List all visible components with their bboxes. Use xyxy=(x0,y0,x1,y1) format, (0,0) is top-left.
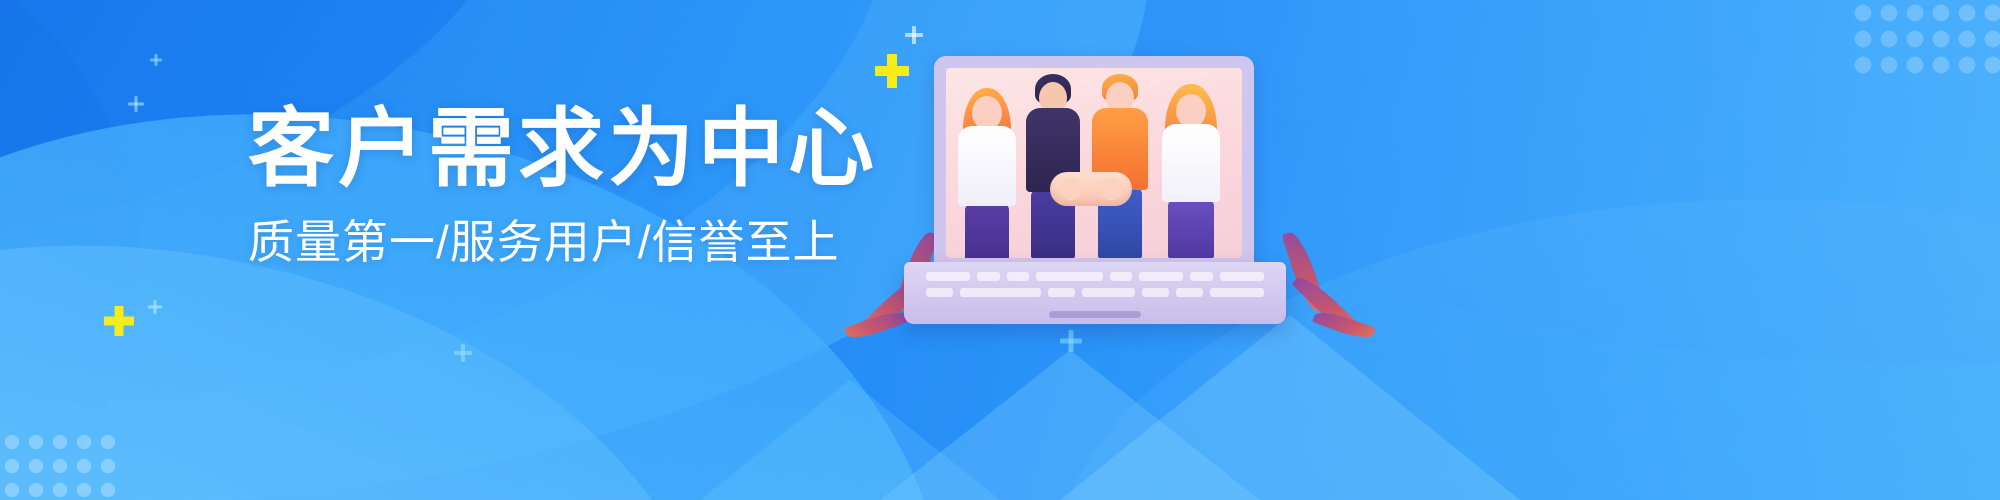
mountain-shape-left xyxy=(880,350,1260,500)
keyboard-key xyxy=(1007,272,1029,281)
dot-grid-bottom-left xyxy=(0,430,120,500)
keyboard-key xyxy=(977,272,999,281)
promo-banner: 客户需求为中心 质量第一/服务用户/信誉至上 xyxy=(0,0,2000,500)
body-shape xyxy=(958,126,1016,206)
keyboard-key xyxy=(1142,288,1169,297)
plus-icon-cyan-center xyxy=(454,344,472,362)
keyboard-key xyxy=(1110,272,1132,281)
plus-icon-cyan-top-left xyxy=(128,96,144,112)
head-shape xyxy=(1176,94,1206,128)
keyboard-key xyxy=(1139,272,1183,281)
keyboard-key xyxy=(1210,288,1264,297)
keyboard-row-top xyxy=(926,272,1264,281)
background-circle-left xyxy=(0,0,140,500)
dot-grid-top-right xyxy=(1850,0,2000,80)
page-subtitle: 质量第一/服务用户/信誉至上 xyxy=(248,217,868,268)
plus-icon-yellow-bottom xyxy=(104,306,134,336)
keyboard-key xyxy=(926,288,953,297)
keyboard-key xyxy=(960,288,1041,297)
mountain-shape-small xyxy=(700,380,1000,500)
plus-icon-cyan-bottom xyxy=(148,300,162,314)
keyboard-row-bottom xyxy=(926,288,1264,297)
legs-shape xyxy=(1168,200,1214,258)
keyboard-key xyxy=(1176,288,1203,297)
head-shape xyxy=(972,96,1002,130)
person-man-orange xyxy=(1088,68,1152,258)
person-woman-left xyxy=(954,78,1020,258)
laptop-screen xyxy=(946,68,1242,258)
page-title: 客户需求为中心 xyxy=(248,104,868,195)
plus-icon-cyan-mid-left xyxy=(150,54,162,66)
keyboard-key xyxy=(1036,272,1103,281)
keyboard-key xyxy=(926,272,970,281)
keyboard-key xyxy=(1220,272,1264,281)
laptop-lid xyxy=(934,56,1254,266)
person-man-navy xyxy=(1022,68,1084,258)
person-woman-right xyxy=(1154,74,1228,258)
headline-block: 客户需求为中心 质量第一/服务用户/信誉至上 xyxy=(248,104,868,268)
laptop-keyboard-base xyxy=(904,262,1286,324)
keyboard-key xyxy=(1190,272,1212,281)
joined-hands-shape xyxy=(1050,172,1132,206)
laptop-team-illustration xyxy=(900,40,1320,370)
body-shape xyxy=(1162,124,1220,202)
keyboard-key xyxy=(1082,288,1136,297)
legs-shape xyxy=(965,204,1009,258)
keyboard-key xyxy=(1048,288,1075,297)
